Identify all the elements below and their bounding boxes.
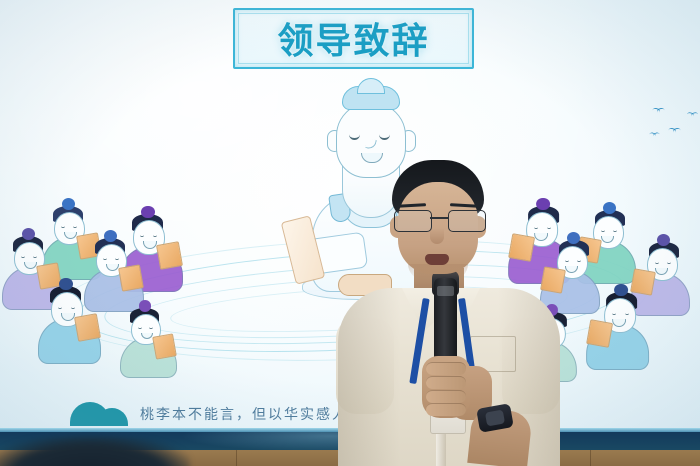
student-hair-bun [657,234,670,246]
bird-icon [668,128,681,135]
wood-seam [590,450,591,466]
mountain-icon [70,398,128,424]
student-mouth [143,241,157,248]
student-hair-bun [104,230,117,242]
student-eye-right [33,254,37,258]
glasses-bridge [430,217,448,219]
glasses-icon [392,210,486,230]
student-hair-bun [59,278,73,291]
speaker-hand-left [422,356,470,418]
student-mouth [24,262,37,269]
speaker-nose [430,228,444,244]
student-book [118,264,144,291]
student-eye-right [153,233,157,237]
student-eye-left [61,224,65,228]
screenshot-stage: 领导致辞 [0,0,700,466]
student-hair-bun [141,206,155,219]
bird-icon [649,133,660,139]
finger [426,390,466,403]
speaker-mouth [425,254,449,265]
mountain-peak-right [96,408,128,426]
teacher-eye-right [379,131,390,140]
student-eye-left [625,311,629,315]
glasses-lens-right [448,210,486,232]
slide-title-box: 领导致辞 [233,8,474,69]
student-hair-bun [614,284,628,297]
student-mouth [141,333,153,340]
teacher-nose [365,138,377,150]
student-eye-left [613,228,617,232]
student-book [586,320,613,349]
student-eye-left [140,233,144,237]
student-figure [118,308,177,378]
student-mouth [655,268,668,275]
student-eye-right [601,228,605,232]
student-mouth [601,236,614,243]
teacher-hat [342,86,400,110]
student-eye-right [73,224,77,228]
student-hair-bun [22,228,35,240]
student-eye-left [667,260,671,264]
finger [426,362,466,375]
student-book [156,242,183,271]
student-eye-right [71,305,75,309]
student-eye-right [149,325,153,329]
speaker-figure [330,160,580,466]
student-book [74,314,101,343]
student-mouth [64,232,77,239]
microphone-label [437,286,454,296]
student-hair-bun [139,300,151,311]
slide-title-text: 领导致辞 [235,11,472,63]
finger [426,376,466,389]
glasses-lens-left [394,210,432,232]
student-eye-right [115,256,119,260]
student-mouth [106,264,119,271]
student-hair-bun [603,202,616,214]
student-mouth [61,313,75,320]
wood-seam [236,450,237,466]
bird-icon [652,108,665,115]
student-book [152,333,177,359]
student-eye-right [655,260,659,264]
student-hair-bun [62,198,75,210]
student-eye-left [103,256,107,260]
bird-icon [687,112,699,118]
student-eye-left [138,325,142,329]
student-eye-right [613,311,617,315]
student-figure [36,286,101,364]
student-eye-left [58,305,62,309]
speaker-chin-shadow [408,264,468,280]
finger [426,403,466,416]
student-figure [586,292,651,370]
student-mouth [612,319,626,326]
student-eye-left [21,254,25,258]
teacher-eye-left [349,131,360,140]
